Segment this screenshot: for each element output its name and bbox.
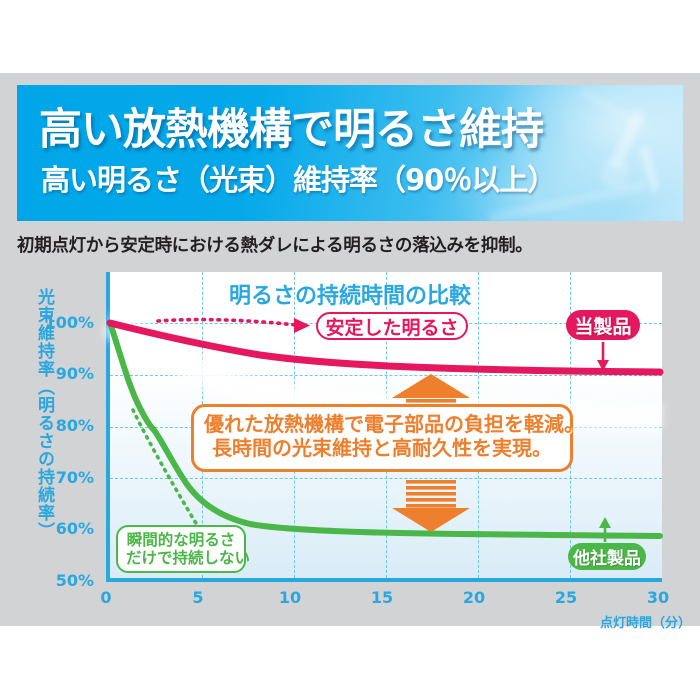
y-tick-90: 90% bbox=[34, 364, 94, 383]
x-tick-30: 30 bbox=[638, 588, 678, 607]
x-tick-25: 25 bbox=[546, 588, 586, 607]
x-tick-0: 0 bbox=[86, 588, 126, 607]
our-product-legend-label: 当製品 bbox=[566, 310, 640, 340]
x-tick-10: 10 bbox=[270, 588, 310, 607]
y-tick-70: 70% bbox=[34, 468, 94, 487]
y-tick-60: 60% bbox=[34, 519, 94, 538]
x-axis-label: 点灯時間（分） bbox=[600, 612, 691, 631]
y-tick-100: 100% bbox=[34, 313, 94, 332]
feature-line1: 優れた放熱機構で電子部品の負担を軽減。 bbox=[204, 412, 584, 436]
other-product-legend-label: 他社製品 bbox=[568, 543, 646, 570]
feature-line2: 長時間の光束維持と高耐久性を実現。 bbox=[212, 436, 552, 460]
banner-subtitle: 高い明るさ（光束）維持率（90％以上） bbox=[41, 157, 555, 199]
header-banner: 高い放熱機構で明るさ維持 高い明るさ（光束）維持率（90％以上） bbox=[17, 85, 683, 221]
stable-brightness-label: 安定した明るさ bbox=[316, 312, 468, 340]
momentary-brightness-line1: 瞬間的な明るさ bbox=[127, 531, 236, 549]
banner-title: 高い放熱機構で明るさ維持 bbox=[39, 95, 543, 157]
momentary-brightness-callout: 瞬間的な明るさ だけで持続しない bbox=[116, 525, 246, 573]
chart-title: 明るさの持続時間の比較 bbox=[0, 278, 700, 310]
momentary-brightness-line2: だけで持続しない bbox=[126, 549, 250, 567]
y-tick-50: 50% bbox=[34, 571, 94, 590]
y-tick-80: 80% bbox=[34, 416, 94, 435]
lead-text: 初期点灯から安定時における熱ダレによる明るさの落込みを抑制。 bbox=[17, 232, 532, 257]
feature-callout: 優れた放熱機構で電子部品の負担を軽減。 長時間の光束維持と高耐久性を実現。 bbox=[191, 404, 573, 472]
infographic-page: 高い放熱機構で明るさ維持 高い明るさ（光束）維持率（90％以上） 初期点灯から安… bbox=[0, 0, 700, 700]
x-tick-20: 20 bbox=[454, 588, 494, 607]
x-tick-15: 15 bbox=[362, 588, 402, 607]
x-tick-5: 5 bbox=[178, 588, 218, 607]
